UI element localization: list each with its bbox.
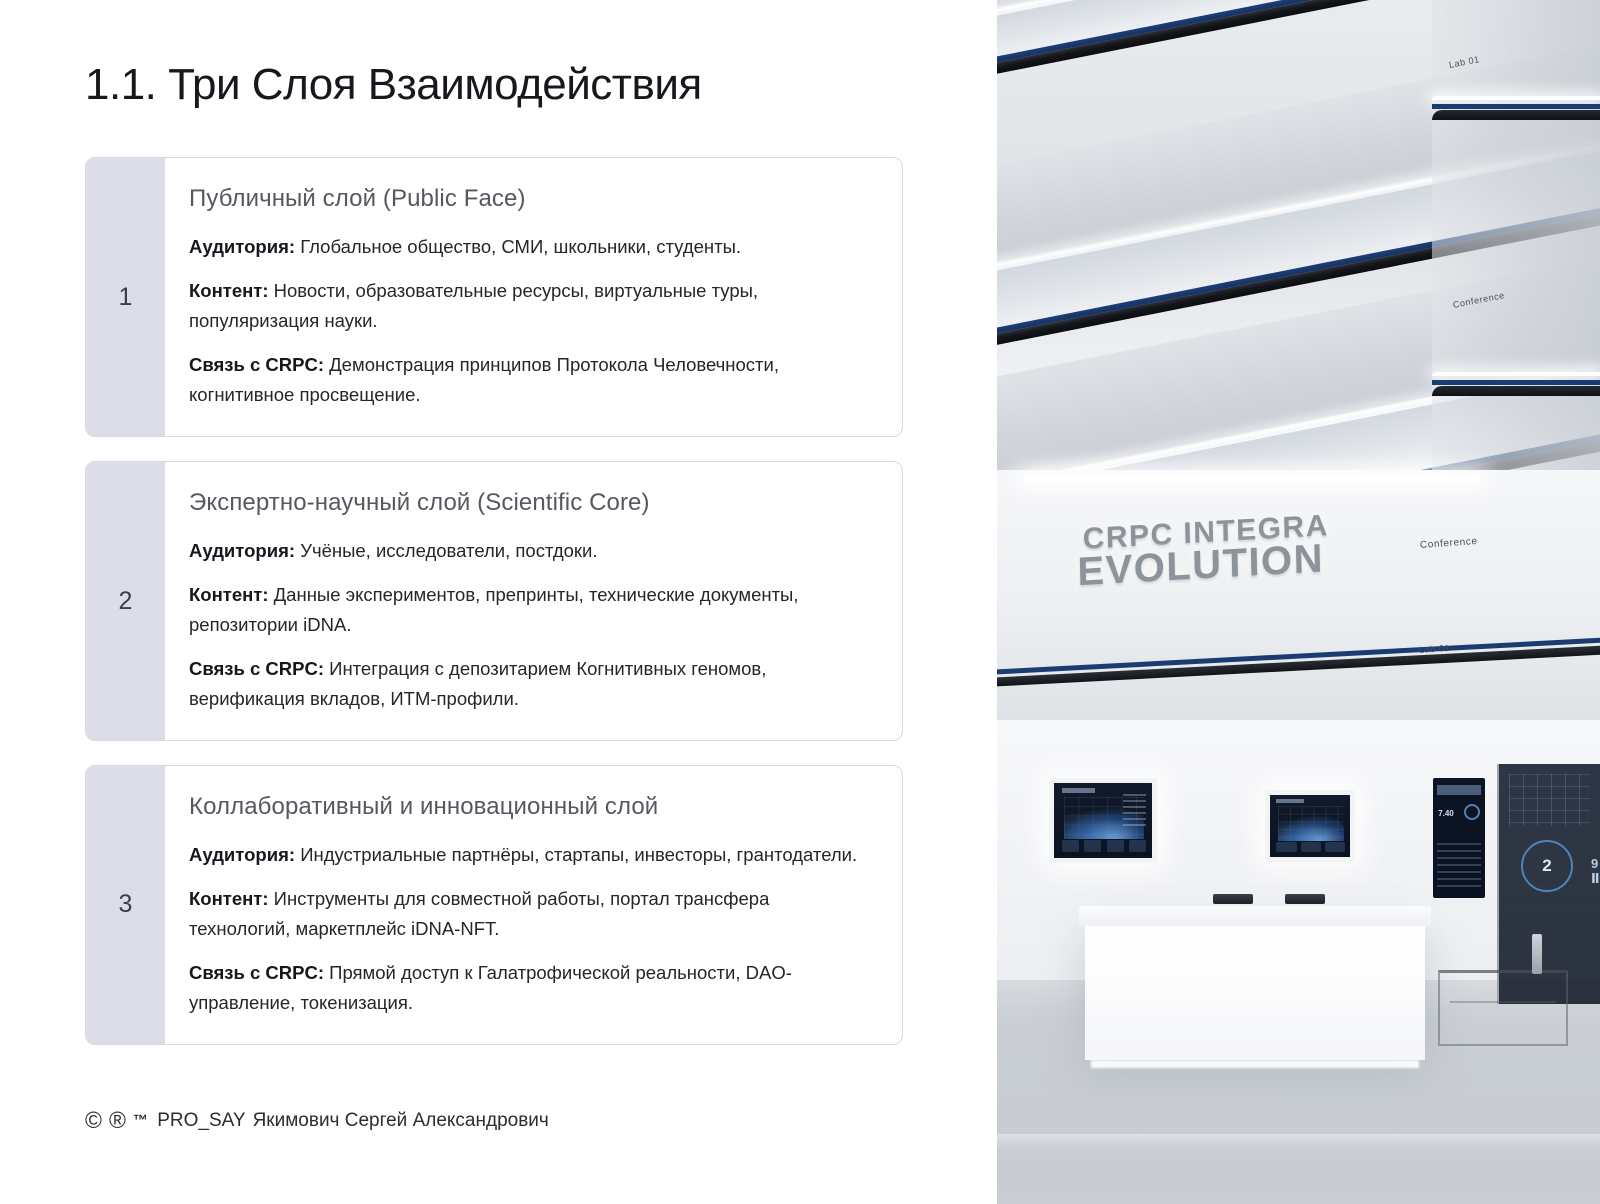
- desk-monitor: [1213, 894, 1253, 904]
- dashboard-display-right: [1265, 790, 1355, 862]
- footer-credit: © ® ™ PRO_SAY Якимович Сергей Александро…: [85, 1109, 549, 1132]
- atrium-corner-column-upper: [1432, 0, 1600, 300]
- layer-card-crpc-link: Связь с CRPC: Прямой доступ к Галатрофич…: [189, 958, 872, 1018]
- display-area-chart: [1278, 815, 1344, 841]
- layer-card-heading: Экспертно-научный слой (Scientific Core): [189, 488, 872, 518]
- display-kpi-chip: [1107, 840, 1124, 852]
- display-canvas: [1270, 795, 1350, 857]
- layer-card-body: Публичный слой (Public Face) Аудитория: …: [165, 158, 902, 436]
- floor-light-guide: [997, 964, 1600, 1204]
- lobby-level: 7.40 2 9 Ⅱ: [997, 720, 1600, 1204]
- corner-led-strip: [1432, 96, 1600, 100]
- registered-trademark-icon: ®: [109, 1109, 126, 1132]
- corner-blue-stripe: [1432, 104, 1600, 109]
- corner-blue-stripe: [1432, 380, 1600, 385]
- crpc-integra-evolution-logo: CRPC INTEGRA EVOLUTION: [1082, 511, 1329, 592]
- display-canvas: [1054, 783, 1152, 858]
- content-column: 1.1. Три Слоя Взаимодействия 1 Публичный…: [0, 0, 997, 1204]
- desk-countertop: [1079, 906, 1431, 926]
- trademark-icon: ™: [133, 1112, 148, 1129]
- floor-reflection: [997, 1004, 1600, 1204]
- footer-owner-name: Якимович Сергей Александрович: [253, 1110, 549, 1132]
- corner-handrail: [1432, 386, 1600, 396]
- display-kpi-chip: [1062, 840, 1079, 852]
- layer-card-body: Коллаборативный и инновационный слой Ауд…: [165, 766, 902, 1044]
- layer-card: 2 Экспертно-научный слой (Scientific Cor…: [85, 461, 903, 741]
- sign-lab-01-feature-wall: Lab 01: [1419, 643, 1451, 655]
- layer-card-audience: Аудитория: Учёные, исследователи, постдо…: [189, 536, 872, 566]
- layer-card-number: 2: [86, 462, 165, 740]
- hero-image-panel: Lab 01 Conference CRPC INTEGRA EVOLUTION…: [997, 0, 1600, 1204]
- footer-brand: PRO_SAY: [157, 1110, 245, 1132]
- page-title: 1.1. Три Слоя Взаимодействия: [85, 60, 997, 109]
- display-kpi-chip: [1276, 842, 1296, 852]
- wall-cove-light: [1025, 476, 1480, 482]
- layer-card-audience: Аудитория: Глобальное общество, СМИ, шко…: [189, 232, 872, 262]
- content-text: Инструменты для совместной работы, порта…: [189, 888, 769, 939]
- content-label: Контент:: [189, 584, 269, 605]
- layer-card-crpc-link: Связь с CRPC: Демонстрация принципов Про…: [189, 350, 872, 410]
- display-legend: [1123, 794, 1147, 830]
- desk-monitor: [1285, 894, 1325, 904]
- audience-label: Аудитория:: [189, 540, 295, 561]
- display-kpi-row: [1276, 842, 1345, 852]
- kiosk-metric-value: 7.40: [1438, 809, 1454, 818]
- layer-card-audience: Аудитория: Индустриальные партнёры, стар…: [189, 840, 872, 870]
- slide-root: 1.1. Три Слоя Взаимодействия 1 Публичный…: [0, 0, 1600, 1204]
- layer-card-heading: Публичный слой (Public Face): [189, 184, 872, 214]
- display-title-bar: [1276, 799, 1303, 803]
- crpc-label: Связь с CRPC:: [189, 962, 324, 983]
- crpc-label: Связь с CRPC:: [189, 658, 324, 679]
- display-kpi-row: [1062, 840, 1146, 852]
- display-kpi-chip: [1084, 840, 1101, 852]
- audience-text: Индустриальные партнёры, стартапы, инвес…: [295, 844, 857, 865]
- door-number-label: 9 Ⅱ: [1591, 856, 1600, 887]
- display-kpi-chip: [1129, 840, 1146, 852]
- layer-card-content: Контент: Новости, образовательные ресурс…: [189, 276, 872, 336]
- corner-led-strip: [1432, 372, 1600, 376]
- kiosk-gauge-icon: [1464, 804, 1480, 820]
- layers-card-list: 1 Публичный слой (Public Face) Аудитория…: [85, 157, 903, 1045]
- layer-card: 1 Публичный слой (Public Face) Аудитория…: [85, 157, 903, 437]
- audience-text: Глобальное общество, СМИ, школьники, сту…: [295, 236, 741, 257]
- kiosk-header-bar: [1437, 785, 1481, 795]
- content-label: Контент:: [189, 888, 269, 909]
- content-label: Контент:: [189, 280, 269, 301]
- audience-label: Аудитория:: [189, 236, 295, 257]
- copyright-icon: ©: [85, 1109, 102, 1132]
- layer-card-number: 1: [86, 158, 165, 436]
- content-text: Данные экспериментов, препринты, техниче…: [189, 584, 799, 635]
- audience-label: Аудитория:: [189, 844, 295, 865]
- display-title-bar: [1062, 788, 1095, 793]
- wayfinding-kiosk[interactable]: 7.40: [1433, 778, 1485, 898]
- layer-card-body: Экспертно-научный слой (Scientific Core)…: [165, 462, 902, 740]
- door-panel-grid: [1509, 774, 1590, 826]
- display-kpi-chip: [1301, 842, 1321, 852]
- crpc-label: Связь с CRPC:: [189, 354, 324, 375]
- corner-handrail: [1432, 110, 1600, 120]
- layer-card-crpc-link: Связь с CRPC: Интеграция с депозитарием …: [189, 654, 872, 714]
- audience-text: Учёные, исследователи, постдоки.: [295, 540, 597, 561]
- display-kpi-chip: [1325, 842, 1345, 852]
- kiosk-data-rows: [1437, 843, 1481, 891]
- layer-card-number: 3: [86, 766, 165, 1044]
- door-counter-badge: 2: [1521, 840, 1573, 892]
- layer-card-content: Контент: Данные экспериментов, препринты…: [189, 580, 872, 640]
- layer-card-heading: Коллаборативный и инновационный слой: [189, 792, 872, 822]
- dashboard-display-left: [1049, 778, 1157, 863]
- atrium-photo: Lab 01 Conference CRPC INTEGRA EVOLUTION…: [997, 0, 1600, 1204]
- layer-card: 3 Коллаборативный и инновационный слой А…: [85, 765, 903, 1045]
- layer-card-content: Контент: Инструменты для совместной рабо…: [189, 884, 872, 944]
- content-text: Новости, образовательные ресурсы, виртуа…: [189, 280, 758, 331]
- feature-wall: CRPC INTEGRA EVOLUTION: [997, 470, 1600, 720]
